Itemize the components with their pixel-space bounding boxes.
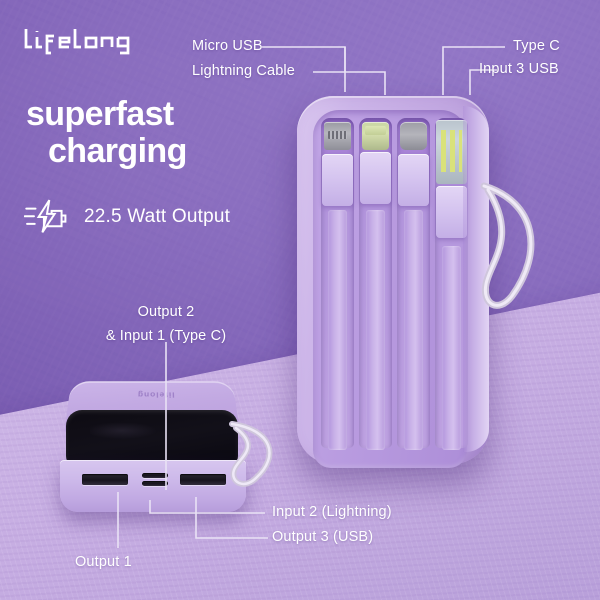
small-lanyard-loop-icon <box>228 420 282 492</box>
port-type-c-upper <box>142 473 168 478</box>
cable-grip-type-c <box>398 154 429 206</box>
cable-grip-lightning <box>360 152 391 204</box>
ribbon-cable-lightning <box>366 210 385 450</box>
fast-charge-battery-icon <box>24 198 70 236</box>
micro-usb-connector-icon <box>324 122 351 150</box>
callout-lightning-cable: Lightning Cable <box>192 63 295 79</box>
callout-output-2-line-1: Output 2 <box>60 304 272 320</box>
small-power-bank: lifelong <box>58 372 250 512</box>
callout-micro-usb: Micro USB <box>192 38 263 54</box>
wattage-label: 22.5 Watt Output <box>84 206 230 228</box>
ribbon-cable-micro-usb <box>328 210 347 450</box>
callout-type-c: Type C <box>513 38 560 54</box>
product-graphic-canvas: lifelong <box>0 0 600 600</box>
small-power-bank-logo: lifelong <box>118 391 194 399</box>
callout-output-2-line-2: & Input 1 (Type C) <box>60 328 272 344</box>
lightning-connector-icon <box>362 122 389 150</box>
cable-slot-lightning <box>359 118 392 448</box>
callout-input-3-usb: Input 3 USB <box>479 61 559 77</box>
headline-line-2: charging <box>26 133 187 170</box>
large-power-bank-right-edge <box>463 106 489 452</box>
callout-output-1: Output 1 <box>75 554 132 570</box>
wattage-feature-row: 22.5 Watt Output <box>24 198 230 236</box>
headline-line-1: superfast <box>26 95 174 133</box>
callout-output-3-usb: Output 3 (USB) <box>272 529 373 545</box>
callout-input-2-lightning: Input 2 (Lightning) <box>272 504 392 520</box>
ribbon-cable-usb-a <box>442 246 461 450</box>
type-c-connector-icon <box>400 122 427 150</box>
ribbon-cable-type-c <box>404 210 423 450</box>
port-input-2-lightning <box>142 481 168 486</box>
cable-slot-type-c <box>397 118 430 448</box>
cable-slot-micro-usb <box>321 118 354 448</box>
small-power-bank-front <box>60 460 246 512</box>
cable-grip-micro-usb <box>322 154 353 206</box>
large-power-bank <box>297 96 489 464</box>
port-output-1-usb <box>82 474 128 485</box>
port-output-3-usb <box>180 474 226 485</box>
lifelong-logo <box>22 24 146 58</box>
page-headline: superfast charging <box>26 96 187 169</box>
